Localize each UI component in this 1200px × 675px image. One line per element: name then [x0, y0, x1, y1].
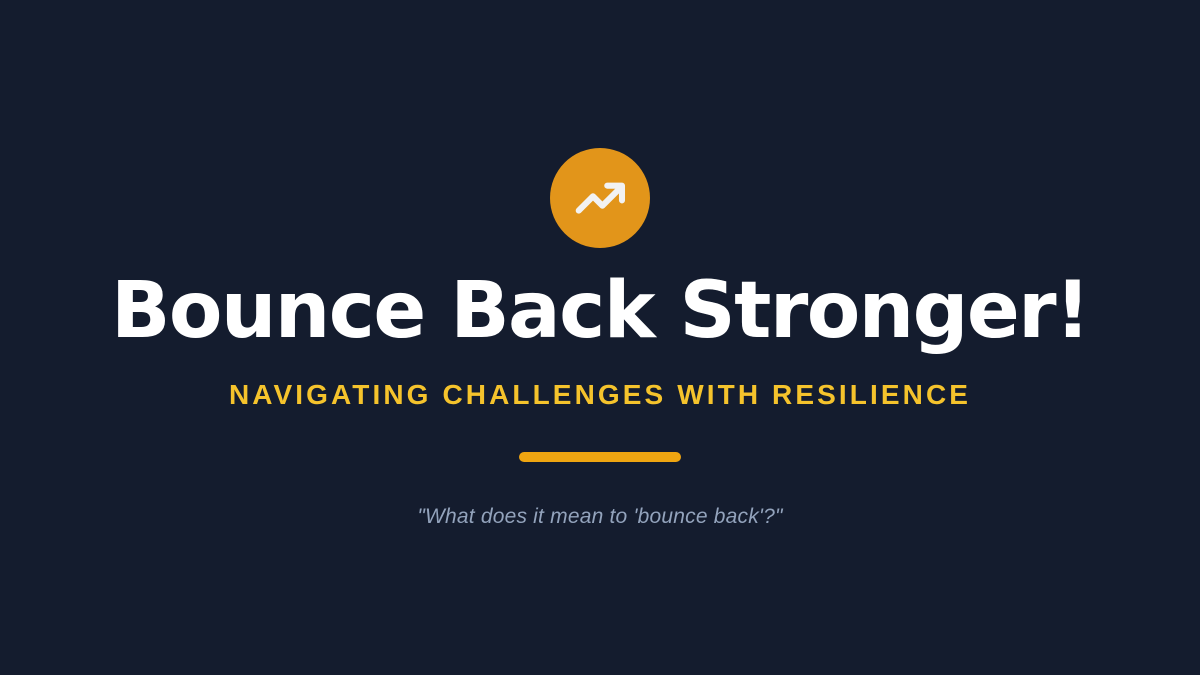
icon-badge — [550, 148, 650, 248]
divider-bar — [519, 452, 681, 462]
page-title: Bounce Back Stronger! — [0, 272, 1200, 350]
divider-wrapper — [0, 452, 1200, 462]
page-subtitle: Navigating Challenges with Resilience — [0, 379, 1200, 411]
title-slide: Bounce Back Stronger! Navigating Challen… — [0, 0, 1200, 675]
trending-up-icon — [571, 169, 629, 227]
quote-text: "What does it mean to 'bounce back'?" — [0, 503, 1200, 530]
